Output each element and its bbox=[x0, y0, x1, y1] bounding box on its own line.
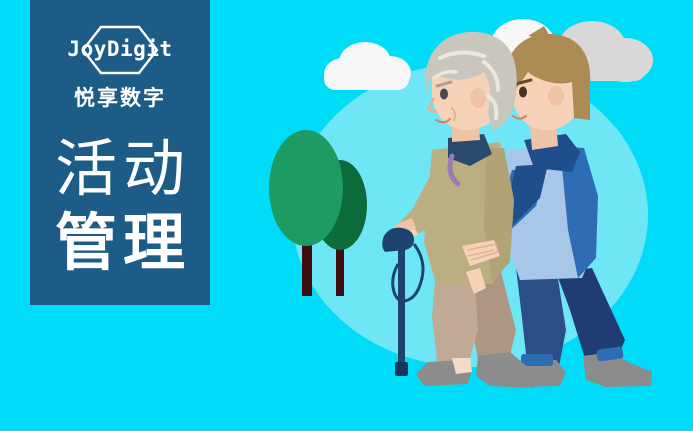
logo-chinese-name: 悦享数字 bbox=[30, 82, 210, 112]
page-title: 活动 管理 bbox=[30, 132, 210, 280]
left-title-panel: JoyDigit 悦享数字 活动 管理 bbox=[30, 0, 210, 305]
logo-mark: JoyDigit bbox=[30, 24, 210, 76]
cloud-small-left bbox=[324, 42, 411, 90]
poster-canvas: JoyDigit 悦享数字 活动 管理 bbox=[0, 0, 693, 431]
page-title-line-2: 管理 bbox=[30, 206, 210, 280]
logo-wordmark: JoyDigit bbox=[30, 36, 210, 62]
brand-logo: JoyDigit 悦享数字 bbox=[30, 24, 210, 112]
page-title-line-1: 活动 bbox=[30, 132, 210, 206]
